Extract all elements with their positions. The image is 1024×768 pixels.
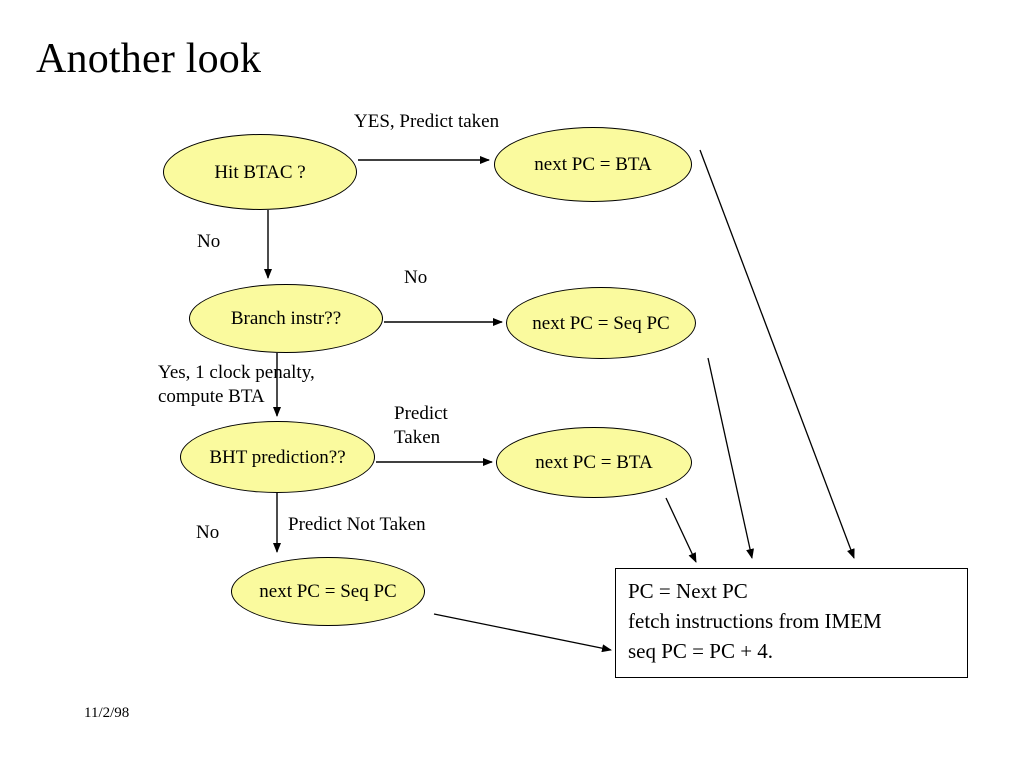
node-label: Branch instr?? — [231, 309, 341, 328]
edge-bta1-to-box — [700, 150, 854, 558]
edge-label-predict-not-taken: Predict Not Taken — [288, 513, 426, 537]
edge-label-line2: Taken — [394, 427, 440, 448]
page-title: Another look — [36, 38, 261, 80]
edge-seq1-to-box — [708, 358, 752, 558]
edge-label-yes-clock-penalty: Yes, 1 clock penalty, compute BTA — [158, 361, 398, 409]
edge-label-no-branch: No — [404, 266, 427, 290]
edge-label-predict-taken: Predict Taken — [394, 402, 504, 450]
box-line-seq-pc: seq PC = PC + 4. — [628, 637, 955, 667]
node-label: next PC = Seq PC — [532, 314, 669, 333]
node-pc-update-box[interactable]: PC = Next PC fetch instructions from IME… — [615, 568, 968, 678]
edge-label-line1: Predict — [394, 403, 448, 424]
node-next-pc-seq-mid[interactable]: next PC = Seq PC — [506, 287, 696, 359]
node-label: Hit BTAC ? — [214, 163, 305, 182]
box-line-fetch: fetch instructions from IMEM — [628, 607, 955, 637]
node-bht-prediction[interactable]: BHT prediction?? — [180, 421, 375, 493]
edge-label-no-bht: No — [196, 521, 219, 545]
node-label: next PC = Seq PC — [259, 582, 396, 601]
edge-seq2-to-box — [434, 614, 611, 650]
edge-label-no-btac: No — [197, 230, 220, 254]
node-branch-instr[interactable]: Branch instr?? — [189, 284, 383, 353]
edge-label-line2: compute BTA — [158, 386, 265, 407]
node-next-pc-bta-third[interactable]: next PC = BTA — [496, 427, 692, 498]
box-line-pc-assign: PC = Next PC — [628, 577, 955, 607]
edge-bta2-to-box — [666, 498, 696, 562]
node-label: next PC = BTA — [534, 155, 651, 174]
node-hit-btac[interactable]: Hit BTAC ? — [163, 134, 357, 210]
node-next-pc-seq-bottom[interactable]: next PC = Seq PC — [231, 557, 425, 626]
footer-date: 11/2/98 — [84, 705, 129, 722]
node-label: BHT prediction?? — [209, 448, 345, 467]
edge-label-line1: Yes, 1 clock penalty, — [158, 362, 315, 383]
slide-canvas: Another look Hit BTAC ? next — [0, 0, 1024, 768]
edge-label-yes-predict-taken: YES, Predict taken — [354, 110, 499, 134]
node-label: next PC = BTA — [535, 453, 652, 472]
node-next-pc-bta-top[interactable]: next PC = BTA — [494, 127, 692, 202]
